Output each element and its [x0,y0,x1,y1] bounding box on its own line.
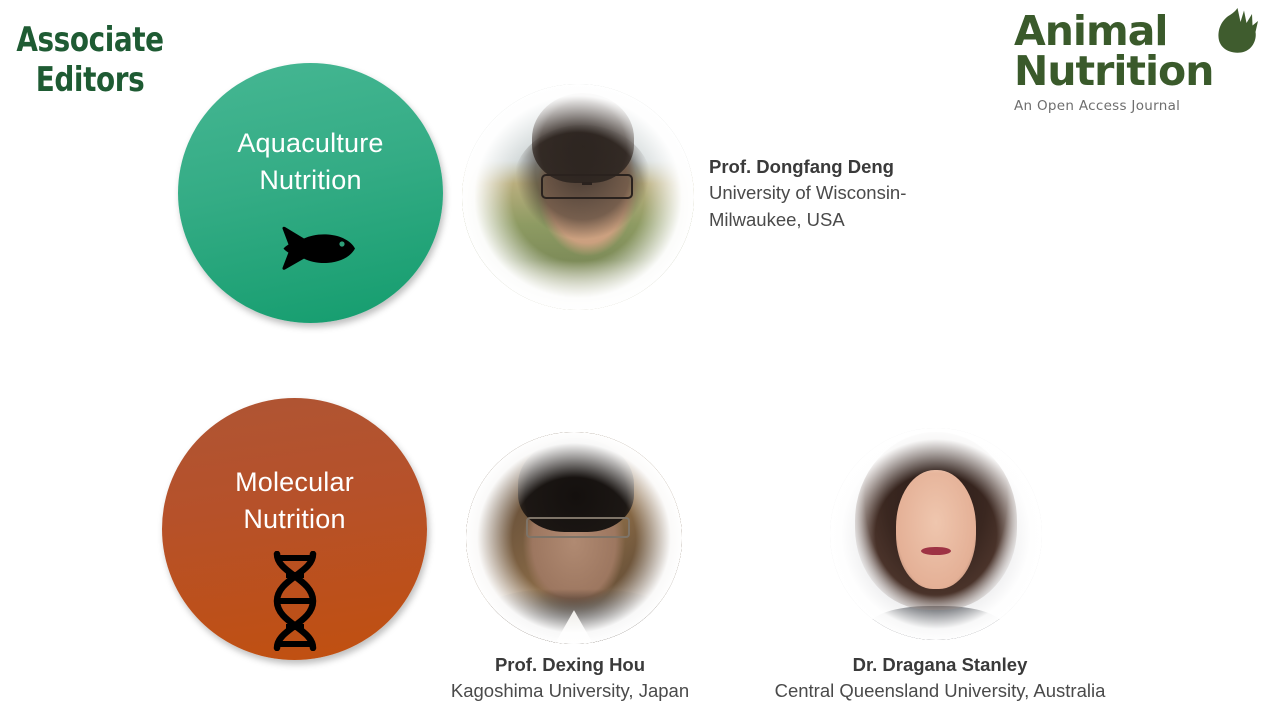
journal-logo: Animal Nutrition An Open Access Journal [1014,12,1254,114]
editor-affiliation-hou: Kagoshima University, Japan [414,678,726,704]
fish-icon-wrap [178,221,443,277]
topic-label-molecular-line-1: Molecular [162,464,427,501]
portrait-deng-vignette [462,84,694,310]
logo-subtitle: An Open Access Journal [1014,98,1254,114]
topic-label-molecular: Molecular Nutrition [162,464,427,539]
topic-label-aquaculture: Aquaculture Nutrition [178,125,443,200]
editor-info-stanley: Dr. Dragana Stanley Central Queensland U… [728,652,1152,705]
page-title: Associate Editors [8,20,172,100]
fish-icon [259,221,363,277]
leaf-mark-icon [1214,6,1260,54]
portrait-hou-vignette [466,432,682,644]
portrait-dragana-stanley [830,428,1042,640]
topic-circle-aquaculture[interactable]: Aquaculture Nutrition [178,63,443,323]
editor-name-deng: Prof. Dongfang Deng [709,154,971,180]
editor-info-deng: Prof. Dongfang Deng University of Wiscon… [709,154,971,233]
editor-affiliation-deng-line-2: Milwaukee, USA [709,207,971,233]
portrait-dongfang-deng [462,84,694,310]
portrait-stanley-vignette [830,428,1042,640]
editor-name-hou: Prof. Dexing Hou [414,652,726,678]
portrait-dexing-hou [466,432,682,644]
topic-label-molecular-line-2: Nutrition [162,501,427,538]
editor-name-stanley: Dr. Dragana Stanley [728,652,1152,678]
dna-icon-wrap [162,551,427,651]
editor-info-hou: Prof. Dexing Hou Kagoshima University, J… [414,652,726,705]
editor-affiliation-stanley: Central Queensland University, Australia [728,678,1152,704]
dna-icon [264,551,326,651]
topic-label-aquaculture-line-1: Aquaculture [178,125,443,162]
page-title-line-2: Editors [8,60,172,100]
logo-line-1: Animal [1014,12,1254,52]
topic-circle-molecular[interactable]: Molecular Nutrition [162,398,427,660]
logo-line-2: Nutrition [1014,52,1254,92]
associate-editors-slide: Associate Editors Animal Nutrition An Op… [0,0,1280,720]
page-title-line-1: Associate [8,20,172,60]
editor-affiliation-deng-line-1: University of Wisconsin- [709,180,971,206]
topic-label-aquaculture-line-2: Nutrition [178,162,443,199]
